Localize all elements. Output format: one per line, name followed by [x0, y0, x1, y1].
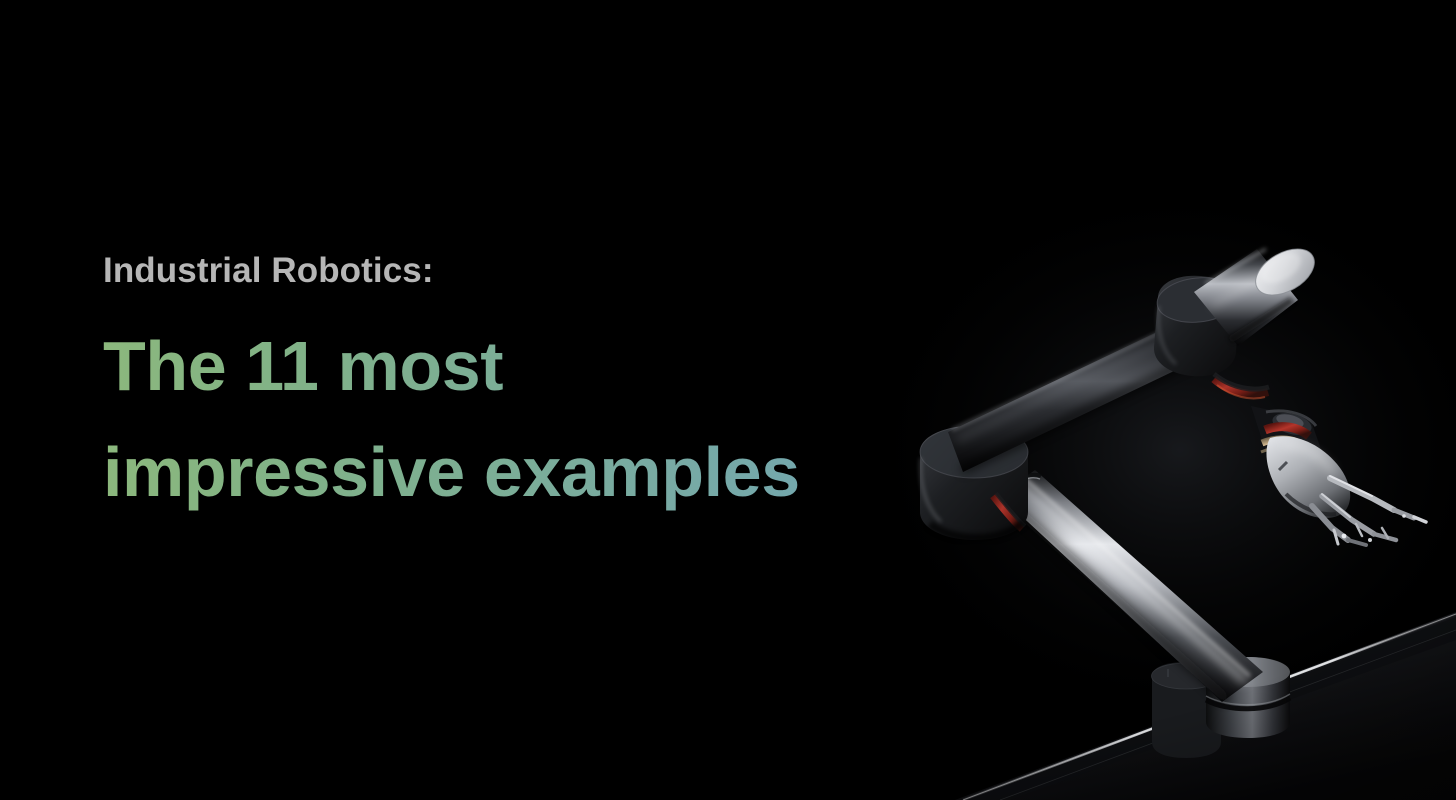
robot-end-effector	[1266, 436, 1350, 518]
robot-gripper-fingers	[1312, 476, 1426, 545]
robot-base-joint	[1152, 657, 1291, 758]
hero-eyebrow: Industrial Robotics:	[103, 252, 1003, 291]
hero-text-block: Industrial Robotics: The 11 most impress…	[103, 252, 1003, 525]
hero-headline: The 11 most impressive examples	[103, 313, 1003, 526]
table-surface	[955, 612, 1456, 800]
robot-accent-rings-wrist	[1261, 427, 1309, 458]
hero-headline-line-1: The 11 most	[103, 313, 1003, 419]
robot-wrist-flange	[1251, 406, 1322, 468]
robot-shoulder-joint	[1154, 274, 1241, 376]
robot-accent-ring-red-upper	[1214, 374, 1269, 399]
robot-forearm-link	[1000, 470, 1263, 702]
hero-banner: Industrial Robotics: The 11 most impress…	[0, 0, 1456, 800]
hero-headline-line-2: impressive examples	[103, 419, 1003, 525]
robot-wrist-link	[1194, 249, 1298, 346]
robot-top-cap	[1248, 240, 1322, 305]
